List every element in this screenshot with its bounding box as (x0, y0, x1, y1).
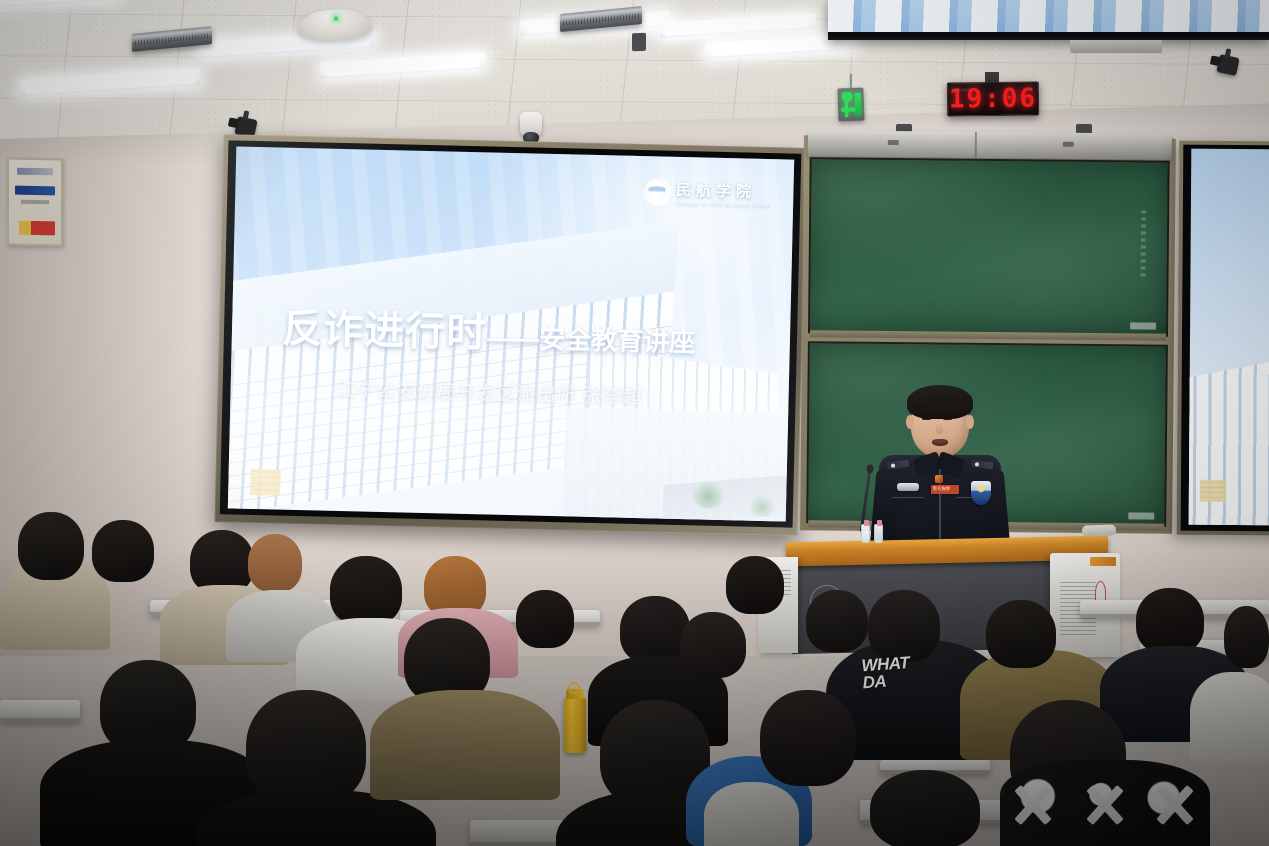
chalk-writing (1140, 211, 1146, 277)
student-head (760, 690, 856, 786)
officer-hair (907, 385, 973, 419)
student-head (330, 556, 402, 626)
slide-institution-logo: 民航学院 College of Civil Aviation NUAA (644, 178, 772, 209)
blackboard-label (1130, 322, 1156, 329)
thermos-handle (568, 682, 580, 694)
student-head (92, 520, 154, 582)
secondary-projection-screen (1177, 141, 1269, 536)
student-head (806, 590, 868, 652)
student-head (868, 590, 940, 662)
chalk-smear (810, 159, 1168, 334)
university-crest-icon (644, 179, 671, 206)
logo-name-cn: 民航学院 (676, 179, 772, 202)
emergency-exit-icon (837, 88, 864, 122)
officer-nose (936, 423, 943, 434)
secondary-lit-windows (1200, 480, 1226, 502)
student-body (370, 690, 560, 800)
notice-logo (17, 168, 53, 176)
podium-cap (1082, 524, 1116, 536)
slide-title-main: 反诈进行时 (282, 307, 488, 356)
slide-title: 反诈进行时——安全教育讲座 (282, 296, 696, 364)
uniform-pocket (955, 497, 989, 519)
uniform-silver-badge (897, 483, 919, 491)
rank-star-icon (975, 462, 979, 466)
water-bottle (874, 524, 883, 543)
secondary-screen-content (1189, 149, 1269, 526)
notice-subtitle (21, 200, 49, 204)
slide-title-dash: ——安全教育讲座 (487, 323, 696, 358)
jacket-x-motif (1082, 782, 1128, 828)
presentation-slide: 民航学院 College of Civil Aviation NUAA 反诈进行… (228, 146, 794, 521)
uniform-pocket (891, 497, 925, 519)
rail-knob (1063, 142, 1074, 147)
top-display-bezel (828, 32, 1269, 37)
projector-mount (632, 33, 646, 51)
framed-notice-icon (7, 158, 63, 247)
student-head (1224, 606, 1269, 668)
blackboard-top-rail (808, 130, 1172, 159)
top-display-content (828, 0, 1269, 33)
console-orange-strip (1090, 557, 1116, 566)
jacket-x-motif (1152, 782, 1198, 828)
officer-ear (906, 415, 914, 429)
student-head (726, 556, 784, 614)
notice-title (15, 186, 55, 196)
blackboard-label (1128, 512, 1154, 519)
top-display-mount (1070, 40, 1162, 53)
student-patterned-jacket (1000, 760, 1210, 846)
digital-clock: SOUND 19:06 (947, 82, 1039, 117)
thermos-bottle (564, 697, 586, 753)
status-led (334, 16, 338, 20)
water-bottle (861, 524, 870, 543)
rank-star-icon (891, 463, 895, 467)
rail-knob (888, 140, 899, 145)
top-display-screen (828, 0, 1269, 40)
student-head (18, 512, 84, 580)
party-emblem-pin-icon (935, 475, 943, 483)
main-projection-screen: 民航学院 College of Civil Aviation NUAA 反诈进行… (215, 134, 807, 536)
jacket-x-motif (1010, 782, 1056, 828)
security-camera-icon (1216, 54, 1239, 76)
notice-stamp (19, 221, 55, 236)
chest-tag-text: 警号胸牌 (933, 486, 957, 493)
student-head (680, 612, 746, 678)
student-head (516, 590, 574, 648)
student-head (1136, 588, 1204, 654)
speaker-police-officer: 警号胸牌 (875, 385, 1005, 550)
officer-chest-tag: 警号胸牌 (931, 485, 959, 494)
exit-arrow-bar (855, 93, 862, 116)
student-body (1190, 672, 1269, 762)
student-head (246, 690, 366, 806)
officer-mouth (932, 439, 948, 446)
clock-brand: SOUND (954, 87, 971, 92)
security-camera-icon (520, 112, 542, 138)
lecture-hall-photo: SOUND 19:06 民 (0, 0, 1269, 846)
student-head (986, 600, 1056, 668)
blackboard-panel-top (808, 157, 1170, 336)
logo-text-block: 民航学院 College of Civil Aviation NUAA (676, 179, 772, 209)
student-head (870, 770, 980, 846)
officer-ear (966, 415, 974, 429)
student-desk (0, 700, 80, 722)
student-head (248, 534, 302, 592)
